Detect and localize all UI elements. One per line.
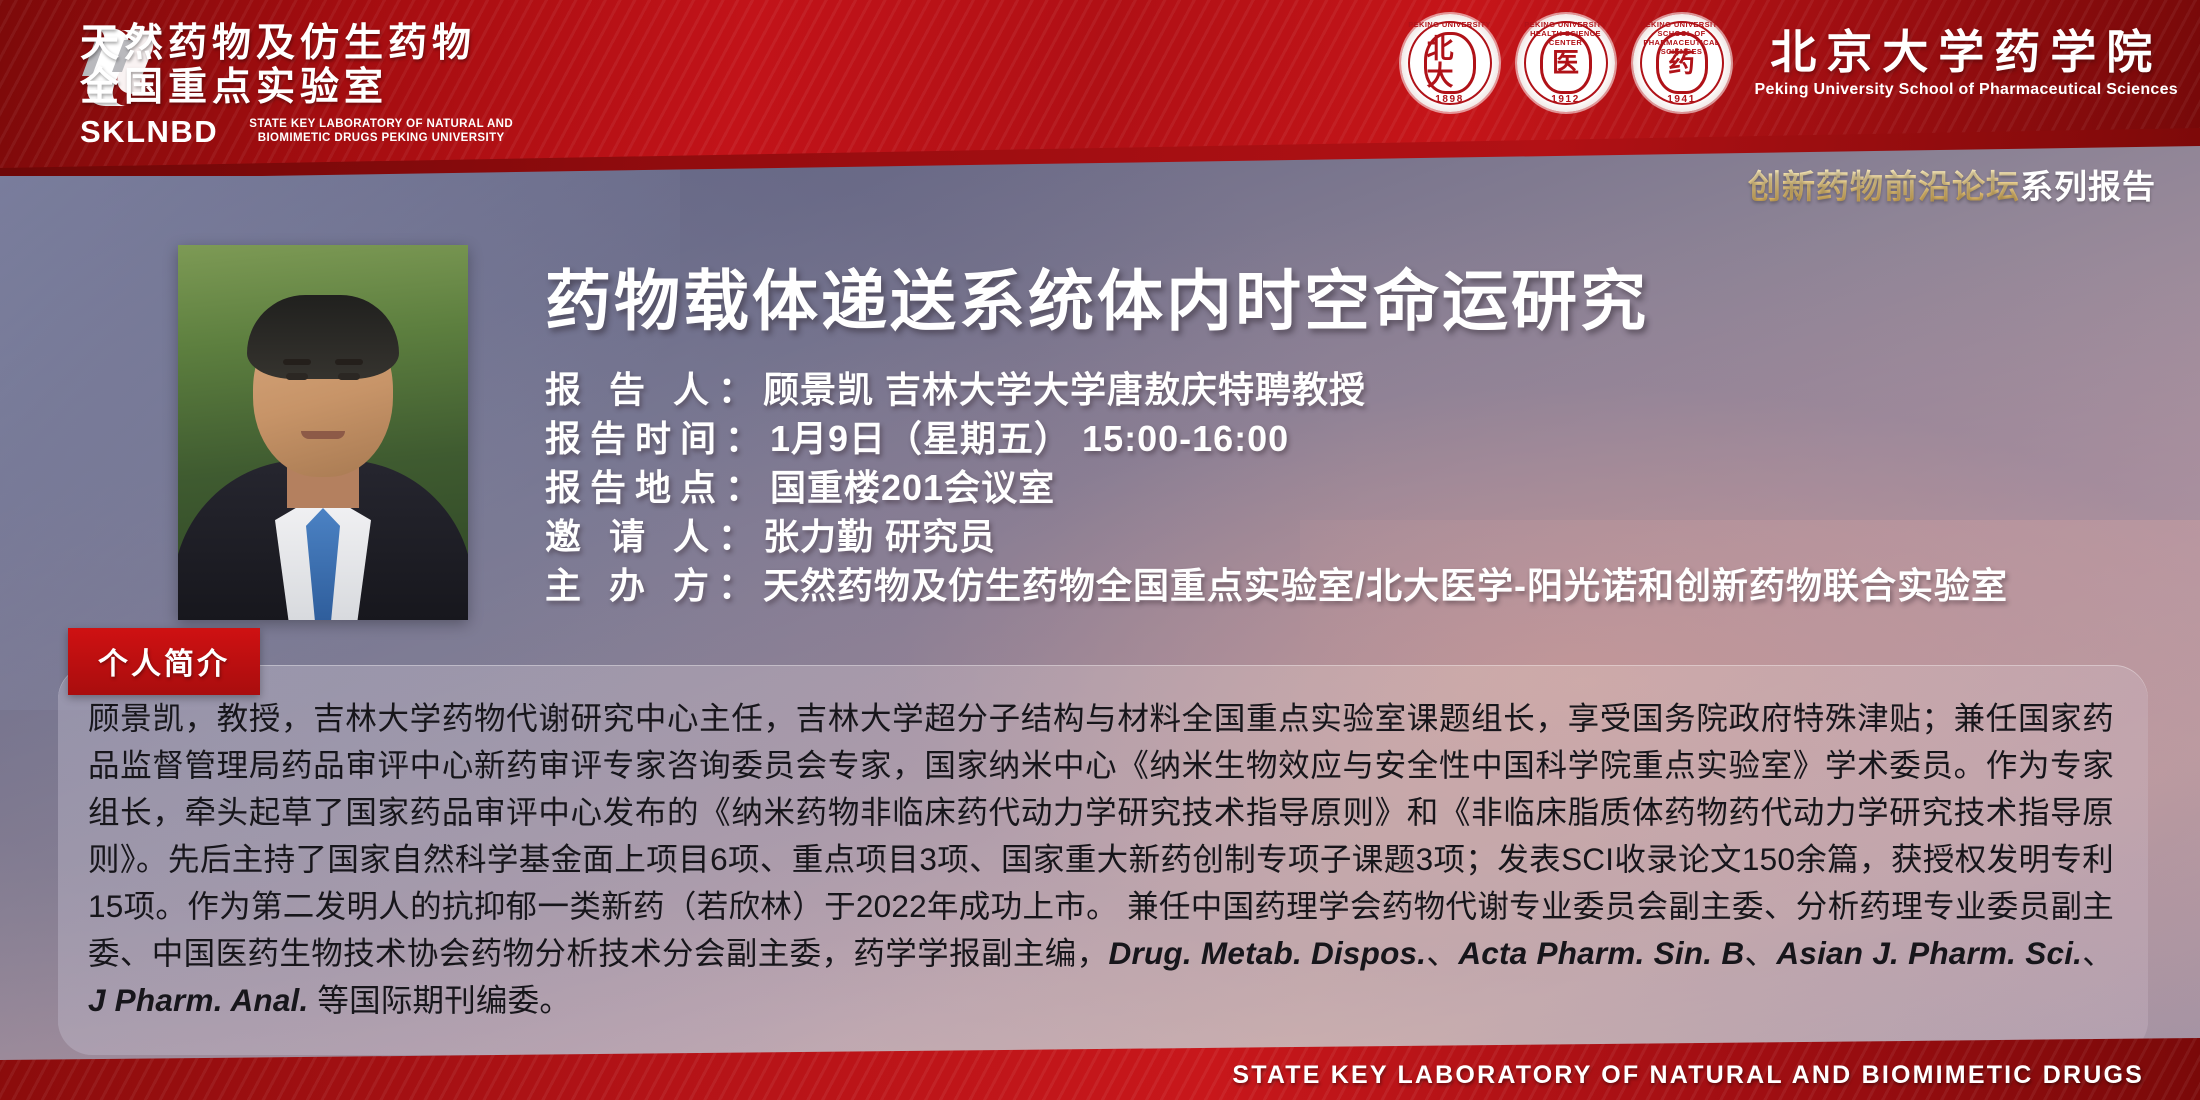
- detail-value: 天然药物及仿生药物全国重点实验室/北大医学-阳光诺和创新药物联合实验室: [763, 565, 2008, 606]
- talk-title: 药物载体递送系统体内时空命运研究: [545, 248, 1649, 344]
- seal-glyph: 医: [1552, 50, 1579, 77]
- organization-name-block: 北京大学药学院 Peking University School of Phar…: [1755, 27, 2178, 99]
- pku-health-science-center-seal: PEKING UNIVERSITY HEALTH SCIENCE CENTER …: [1517, 14, 1615, 112]
- forum-series-suffix: 系列报告: [2020, 168, 2156, 205]
- detail-label: 报 告 人：: [545, 369, 763, 410]
- peking-university-seal: PEKING UNIVERSITY 北大 1898: [1401, 14, 1499, 112]
- speaker-portrait: [178, 245, 468, 620]
- lab-identity-block: 天然药物及仿生药物 全国重点实验室 SKLNBD STATE KEY LABOR…: [80, 16, 531, 148]
- detail-label: 邀 请 人：: [545, 516, 763, 557]
- forum-series-label: 创新药物前沿论坛系列报告: [1748, 160, 2156, 208]
- detail-label: 报告时间：: [545, 418, 770, 459]
- portrait-mouth: [301, 431, 345, 439]
- detail-row-speaker: 报 告 人：顾景凯 吉林大学大学唐敖庆特聘教授: [545, 365, 2008, 414]
- university-seals-group: PEKING UNIVERSITY 北大 1898 PEKING UNIVERS…: [1401, 14, 2178, 112]
- detail-row-time: 报告时间：1月9日（星期五） 15:00-16:00: [545, 414, 2008, 463]
- detail-row-location: 报告地点：国重楼201会议室: [545, 463, 2008, 512]
- seal-year: 1941: [1633, 94, 1731, 105]
- journal-name-1: Drug. Metab. Dispos.: [1109, 935, 1427, 971]
- lab-abbreviation: SKLNBD: [80, 116, 218, 148]
- detail-value: 国重楼201会议室: [770, 467, 1055, 508]
- bio-panel: 顾景凯，教授，吉林大学药物代谢研究中心主任，吉林大学超分子结构与材料全国重点实验…: [58, 665, 2148, 1055]
- journal-name-4: J Pharm. Anal.: [88, 982, 308, 1018]
- seal-top-text: PEKING UNIVERSITY: [1401, 20, 1499, 29]
- seal-emblem: 药: [1656, 32, 1708, 94]
- portrait-eyebrow-right: [335, 359, 363, 365]
- detail-label: 主 办 方：: [545, 565, 763, 606]
- seal-glyph: 药: [1668, 50, 1695, 77]
- seal-year: 1898: [1401, 94, 1499, 105]
- talk-details-list: 报 告 人：顾景凯 吉林大学大学唐敖庆特聘教授 报告时间：1月9日（星期五） 1…: [545, 365, 2008, 610]
- bio-section-badge: 个人简介: [68, 628, 260, 695]
- journal-separator-2: 、: [1744, 935, 1776, 971]
- organization-name-en: Peking University School of Pharmaceutic…: [1755, 81, 2178, 99]
- seal-year: 1912: [1517, 94, 1615, 105]
- seal-glyph: 北大: [1427, 36, 1473, 90]
- seal-emblem: 北大: [1424, 32, 1476, 94]
- portrait-eye-right: [338, 373, 360, 380]
- detail-value: 1月9日（星期五） 15:00-16:00: [770, 418, 1289, 459]
- lab-english-name: STATE KEY LABORATORY OF NATURAL AND BIOM…: [231, 118, 531, 148]
- lab-name-line2: 全国重点实验室: [80, 66, 531, 110]
- portrait-eyebrow-left: [283, 359, 311, 365]
- journal-name-3: Asian J. Pharm. Sci.: [1776, 935, 2082, 971]
- lab-name-line1: 天然药物及仿生药物: [80, 22, 531, 66]
- journal-name-2: Acta Pharm. Sin. B: [1458, 935, 1744, 971]
- bio-text-part2: 等国际期刊编委。: [308, 982, 571, 1018]
- bio-text-part1: 顾景凯，教授，吉林大学药物代谢研究中心主任，吉林大学超分子结构与材料全国重点实验…: [88, 700, 2114, 971]
- pku-school-of-pharmaceutical-sciences-seal: PEKING UNIVERSITY SCHOOL OF PHARMACEUTIC…: [1633, 14, 1731, 112]
- detail-value: 张力勤 研究员: [763, 516, 996, 557]
- journal-separator-3: 、: [2082, 935, 2114, 971]
- detail-value: 顾景凯 吉林大学大学唐敖庆特聘教授: [763, 369, 1366, 410]
- bio-text: 顾景凯，教授，吉林大学药物代谢研究中心主任，吉林大学超分子结构与材料全国重点实验…: [88, 695, 2114, 1024]
- lab-english-line2: DRUGS PEKING UNIVERSITY: [334, 132, 504, 144]
- seminar-poster: 天然药物及仿生药物 全国重点实验室 SKLNBD STATE KEY LABOR…: [0, 0, 2200, 1100]
- detail-row-host: 邀 请 人：张力勤 研究员: [545, 512, 2008, 561]
- detail-label: 报告地点：: [545, 467, 770, 508]
- detail-row-organizer: 主 办 方：天然药物及仿生药物全国重点实验室/北大医学-阳光诺和创新药物联合实验…: [545, 561, 2008, 610]
- portrait-eye-left: [286, 373, 308, 380]
- organization-name-cn: 北京大学药学院: [1755, 27, 2178, 79]
- footer-lab-name: STATE KEY LABORATORY OF NATURAL AND BIOM…: [1232, 1061, 2144, 1090]
- journal-separator-1: 、: [1426, 935, 1458, 971]
- seal-emblem: 医: [1540, 32, 1592, 94]
- portrait-hair: [247, 295, 399, 379]
- forum-series-highlight: 创新药物前沿论坛: [1748, 168, 2020, 205]
